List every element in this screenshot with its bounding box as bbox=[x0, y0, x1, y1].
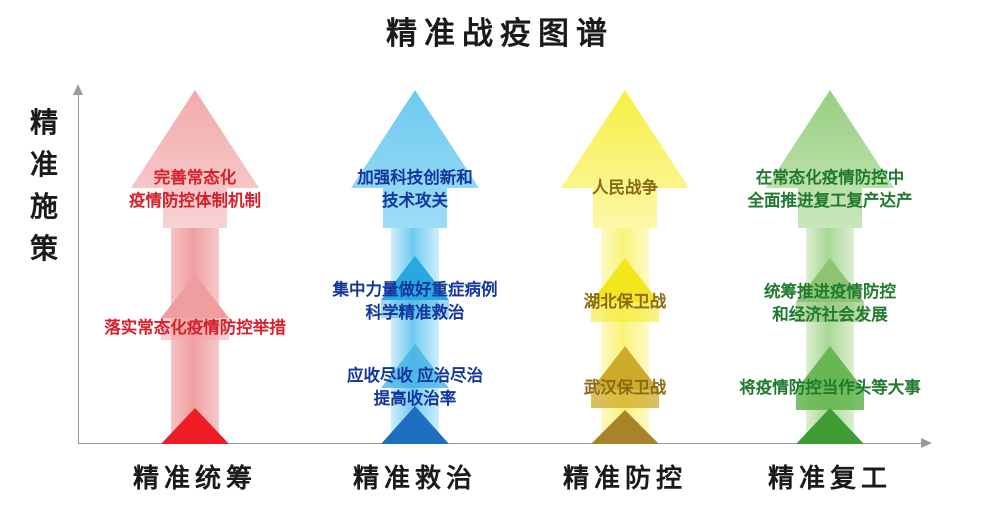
arrow-red-icon bbox=[129, 88, 261, 444]
arrow-label-green-2: 统筹推进疫情防控 和经济社会发展 bbox=[702, 280, 958, 326]
arrow-label-green-1: 在常态化疫情防控中 全面推进复工复产达产 bbox=[702, 166, 958, 212]
column-jingzhun-fugong: 在常态化疫情防控中 全面推进复工复产达产 统筹推进疫情防控 和经济社会发展 将疫… bbox=[720, 88, 940, 444]
column-jingzhun-jiuzhi: 加强科技创新和 技术攻关 集中力量做好重症病例 科学精准救治 应收尽收 应治尽治… bbox=[305, 88, 525, 444]
category-label-3: 精准复工 bbox=[700, 458, 960, 495]
arrow-label-red-1: 完善常态化 疫情防控体制机制 bbox=[67, 166, 323, 212]
arrow-label-red-2: 落实常态化疫情防控举措 bbox=[67, 316, 323, 339]
y-axis-label: 精准施策 bbox=[22, 103, 66, 271]
arrow-label-green-3: 将疫情防控当作头等大事 bbox=[702, 376, 958, 399]
y-axis-arrowhead-icon bbox=[73, 84, 83, 95]
column-jingzhun-tongchou: 完善常态化 疫情防控体制机制 落实常态化疫情防控举措 bbox=[85, 88, 305, 444]
chart-canvas: 精准战疫图谱 精准施策 bbox=[0, 0, 1000, 527]
page-title: 精准战疫图谱 bbox=[0, 8, 1000, 53]
y-axis-line bbox=[78, 92, 79, 444]
